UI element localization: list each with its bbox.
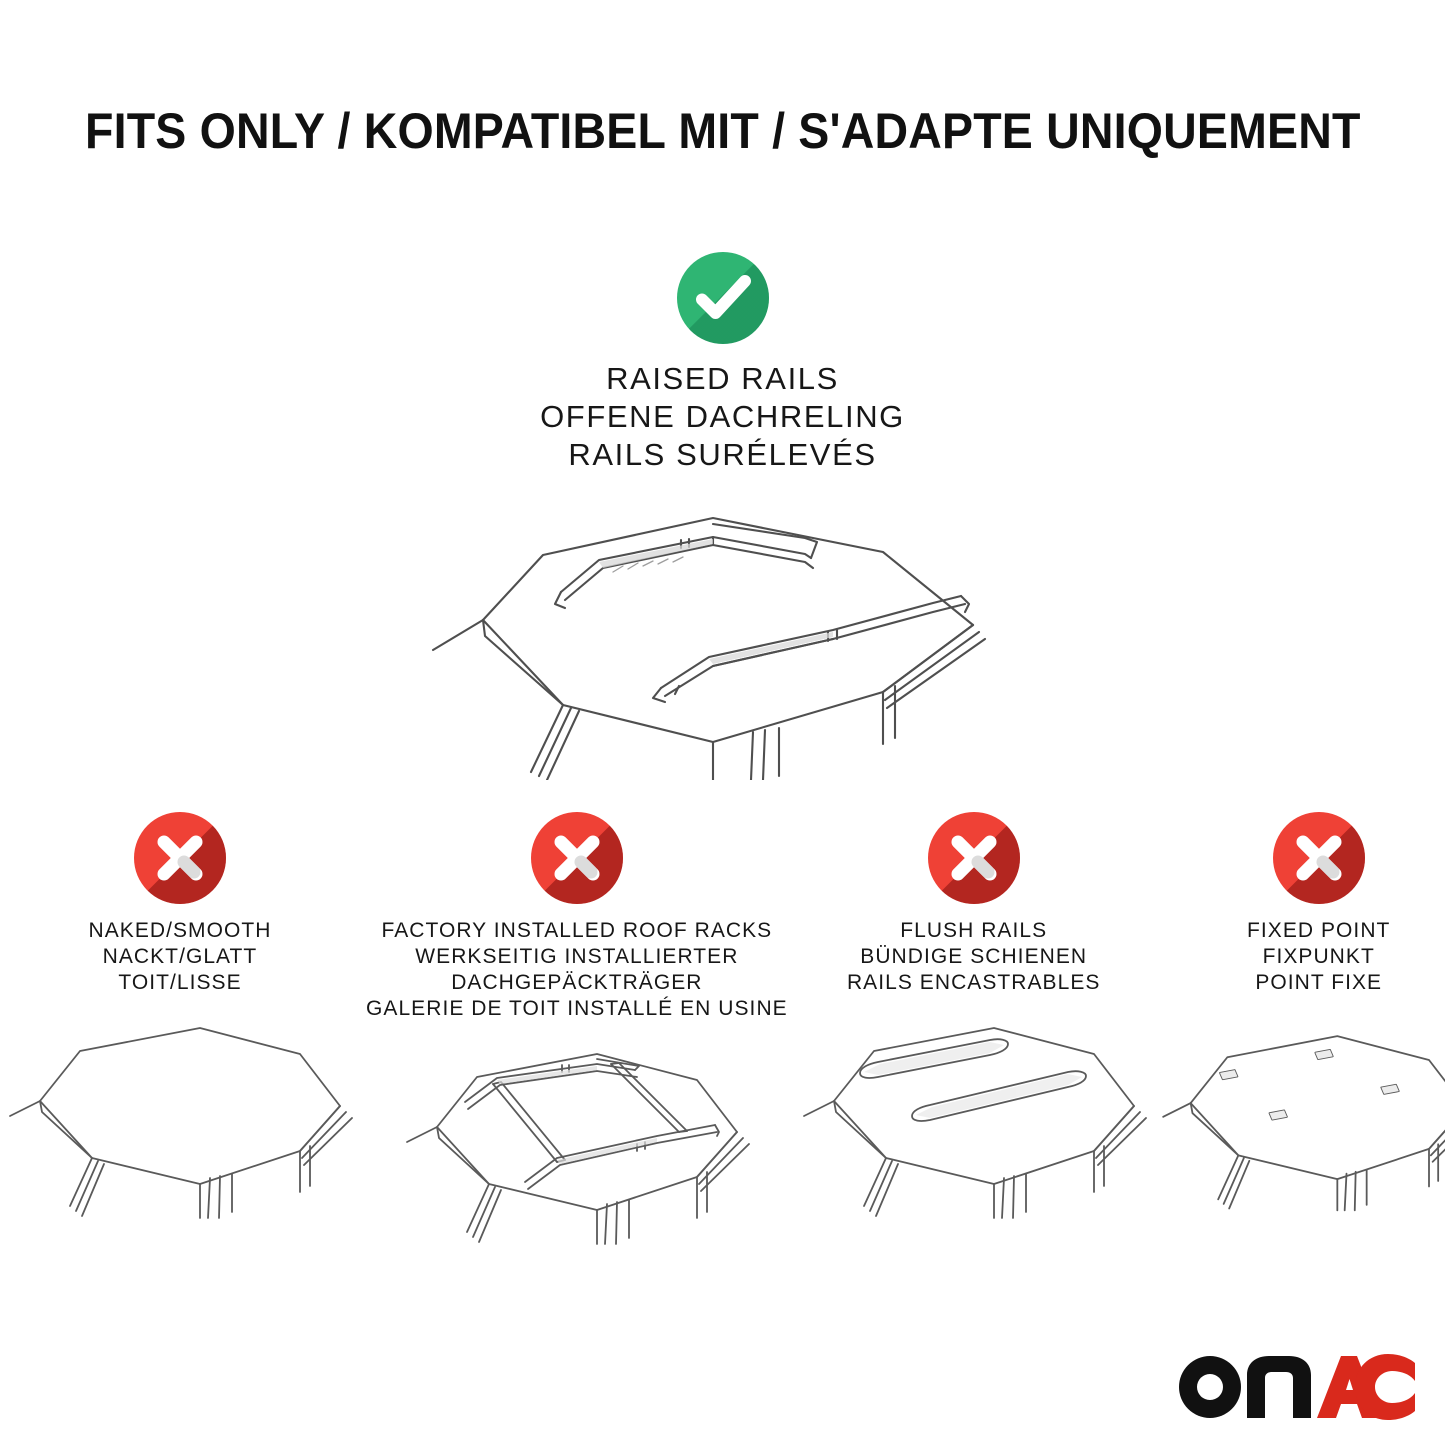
caption-fixed-point: FIXED POINT FIXPUNKT POINT FIXE	[1241, 918, 1396, 996]
caption-line-fr: TOIT/LISSE	[89, 970, 272, 996]
compatible-caption-line-fr: RAILS SURÉLEVÉS	[540, 436, 905, 474]
caption-line-de-1: WERKSEITIG INSTALLIERTER	[366, 944, 788, 970]
caption-line-fr: RAILS ENCASTRABLES	[847, 970, 1100, 996]
car-roof-naked-smooth-illustration	[0, 1006, 360, 1246]
check-circle-icon	[677, 252, 769, 344]
caption-line-en: FIXED POINT	[1247, 918, 1390, 944]
car-roof-factory-crossbars-illustration	[397, 1032, 757, 1272]
compatible-section: RAISED RAILS OFFENE DACHRELING RAILS SUR…	[0, 252, 1445, 780]
caption-line-de: FIXPUNKT	[1247, 944, 1390, 970]
car-roof-flush-rails-illustration	[794, 1006, 1154, 1246]
x-circle-icon	[134, 812, 226, 904]
page-title-text: FITS ONLY / KOMPATIBEL MIT / S'ADAPTE UN…	[85, 102, 1361, 160]
caption-line-en: FLUSH RAILS	[847, 918, 1100, 944]
x-circle-icon	[531, 812, 623, 904]
caption-line-de-2: DACHGEPÄCKTRÄGER	[366, 970, 788, 996]
caption-naked-smooth: NAKED/SMOOTH NACKT/GLATT TOIT/LISSE	[83, 918, 278, 996]
incompatible-option-fixed-point: FIXED POINT FIXPUNKT POINT FIXE	[1154, 812, 1445, 1246]
compatible-caption-line-de: OFFENE DACHRELING	[540, 398, 905, 436]
caption-line-de: NACKT/GLATT	[89, 944, 272, 970]
omac-logo: OMAC	[1177, 1351, 1417, 1423]
compatible-caption: RAISED RAILS OFFENE DACHRELING RAILS SUR…	[540, 360, 905, 474]
caption-line-fr: POINT FIXE	[1247, 970, 1390, 996]
caption-line-de: BÜNDIGE SCHIENEN	[847, 944, 1100, 970]
caption-line-en: FACTORY INSTALLED ROOF RACKS	[366, 918, 788, 944]
incompatible-option-flush-rails: FLUSH RAILS BÜNDIGE SCHIENEN RAILS ENCAS…	[794, 812, 1154, 1246]
caption-line-en: NAKED/SMOOTH	[89, 918, 272, 944]
caption-flush-rails: FLUSH RAILS BÜNDIGE SCHIENEN RAILS ENCAS…	[841, 918, 1106, 996]
car-roof-raised-rails-illustration	[413, 480, 1033, 780]
incompatible-option-naked-smooth: NAKED/SMOOTH NACKT/GLATT TOIT/LISSE	[0, 812, 360, 1246]
car-roof-fixed-points-illustration	[1154, 1006, 1445, 1246]
omac-logo-letter-o	[1179, 1356, 1241, 1418]
x-circle-icon	[928, 812, 1020, 904]
compatible-caption-line-en: RAISED RAILS	[540, 360, 905, 398]
caption-factory-roof-racks: FACTORY INSTALLED ROOF RACKS WERKSEITIG …	[360, 918, 794, 1022]
page-title: FITS ONLY / KOMPATIBEL MIT / S'ADAPTE UN…	[0, 102, 1445, 160]
omac-logo-letter-m	[1247, 1356, 1311, 1418]
omac-logo-letter-c	[1355, 1354, 1415, 1420]
x-circle-icon	[1273, 812, 1365, 904]
incompatible-section: NAKED/SMOOTH NACKT/GLATT TOIT/LISSE	[0, 812, 1445, 1272]
incompatible-option-factory-roof-racks: FACTORY INSTALLED ROOF RACKS WERKSEITIG …	[360, 812, 794, 1272]
caption-line-fr: GALERIE DE TOIT INSTALLÉ EN USINE	[366, 996, 788, 1022]
